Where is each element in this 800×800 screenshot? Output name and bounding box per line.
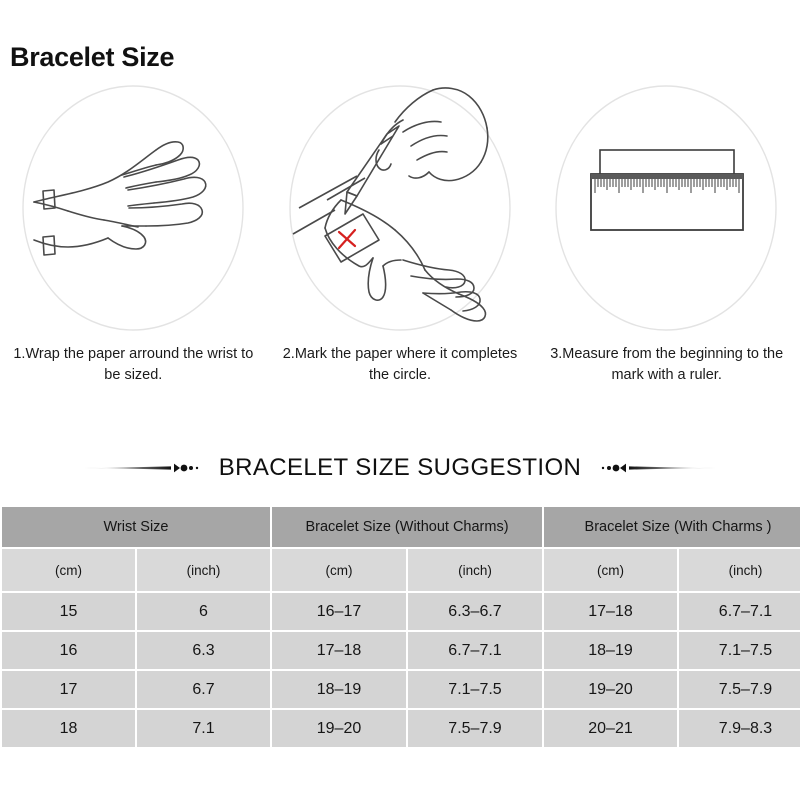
hand-with-paper-strip-icon — [16, 80, 251, 340]
unit-header-cell: (cm) — [2, 549, 135, 591]
pen — [345, 126, 399, 214]
section-heading: BRACELET SIZE SUGGESTION — [0, 446, 800, 490]
step-2-caption: 2.Mark the paper where it completes the … — [275, 344, 525, 386]
unit-header-cell: (inch) — [679, 549, 800, 591]
table-cell: 7.1 — [137, 710, 270, 747]
hand-outline — [34, 142, 206, 249]
step-1-illustration — [16, 80, 251, 340]
table-cell: 7.1–7.5 — [679, 632, 800, 669]
table-head: Wrist Size Bracelet Size (Without Charms… — [2, 507, 800, 591]
table-row: 17 6.7 18–19 7.1–7.5 19–20 7.5–7.9 — [2, 671, 800, 708]
table-cell: 15 — [2, 593, 135, 630]
unit-header-cell: (cm) — [272, 549, 406, 591]
group-header-without-charms: Bracelet Size (Without Charms) — [272, 507, 542, 547]
red-mark-icon — [339, 230, 355, 248]
table-cell: 6 — [137, 593, 270, 630]
table-cell: 20–21 — [544, 710, 677, 747]
table-cell: 6.7–7.1 — [679, 593, 800, 630]
table-cell: 7.1–7.5 — [408, 671, 542, 708]
table-cell: 7.5–7.9 — [408, 710, 542, 747]
step-3: 3.Measure from the beginning to the mark… — [533, 80, 800, 410]
hand-marking-paper-with-pen-icon — [283, 80, 518, 340]
table-cell: 6.3–6.7 — [408, 593, 542, 630]
ornament-left-icon — [85, 459, 203, 477]
table-cell: 19–20 — [272, 710, 406, 747]
group-header-row: Wrist Size Bracelet Size (Without Charms… — [2, 507, 800, 547]
table-cell: 18 — [2, 710, 135, 747]
table-cell: 7.9–8.3 — [679, 710, 800, 747]
group-header-wrist-size: Wrist Size — [2, 507, 270, 547]
unit-header-row: (cm) (inch) (cm) (inch) (cm) (inch) — [2, 549, 800, 591]
table-body: 15 6 16–17 6.3–6.7 17–18 6.7–7.1 16 6.3 … — [2, 593, 800, 747]
unit-header-cell: (inch) — [408, 549, 542, 591]
step-3-caption: 3.Measure from the beginning to the mark… — [542, 344, 792, 386]
step-1-caption: 1.Wrap the paper arround the wrist to be… — [8, 344, 258, 386]
step-2: 2.Mark the paper where it completes the … — [267, 80, 534, 410]
table-cell: 6.7–7.1 — [408, 632, 542, 669]
table-cell: 17–18 — [272, 632, 406, 669]
table-row: 16 6.3 17–18 6.7–7.1 18–19 7.1–7.5 — [2, 632, 800, 669]
table-cell: 18–19 — [272, 671, 406, 708]
table-cell: 16 — [2, 632, 135, 669]
group-header-with-charms: Bracelet Size (With Charms ) — [544, 507, 800, 547]
page-title: Bracelet Size — [10, 44, 174, 71]
ruler-top-band — [591, 174, 743, 179]
lower-hand-outline — [325, 200, 485, 321]
size-table: Wrist Size Bracelet Size (Without Charms… — [0, 505, 800, 749]
table-row: 18 7.1 19–20 7.5–7.9 20–21 7.9–8.3 — [2, 710, 800, 747]
table-cell: 16–17 — [272, 593, 406, 630]
table-cell: 19–20 — [544, 671, 677, 708]
step-2-illustration — [283, 80, 518, 340]
table-cell: 17 — [2, 671, 135, 708]
table-cell: 18–19 — [544, 632, 677, 669]
step-1: 1.Wrap the paper arround the wrist to be… — [0, 80, 267, 410]
unit-header-cell: (cm) — [544, 549, 677, 591]
table-row: 15 6 16–17 6.3–6.7 17–18 6.7–7.1 — [2, 593, 800, 630]
step-3-illustration — [549, 80, 784, 340]
table-cell: 6.3 — [137, 632, 270, 669]
ruler-measuring-paper-strip-icon — [549, 80, 784, 340]
unit-header-cell: (inch) — [137, 549, 270, 591]
table-cell: 7.5–7.9 — [679, 671, 800, 708]
upper-hand-holding-pen-outline — [376, 88, 488, 181]
steps-row: 1.Wrap the paper arround the wrist to be… — [0, 80, 800, 410]
table-cell: 17–18 — [544, 593, 677, 630]
table-cell: 6.7 — [137, 671, 270, 708]
paper-strip — [600, 150, 734, 175]
section-title: BRACELET SIZE SUGGESTION — [219, 454, 582, 482]
ornament-right-icon — [597, 459, 715, 477]
